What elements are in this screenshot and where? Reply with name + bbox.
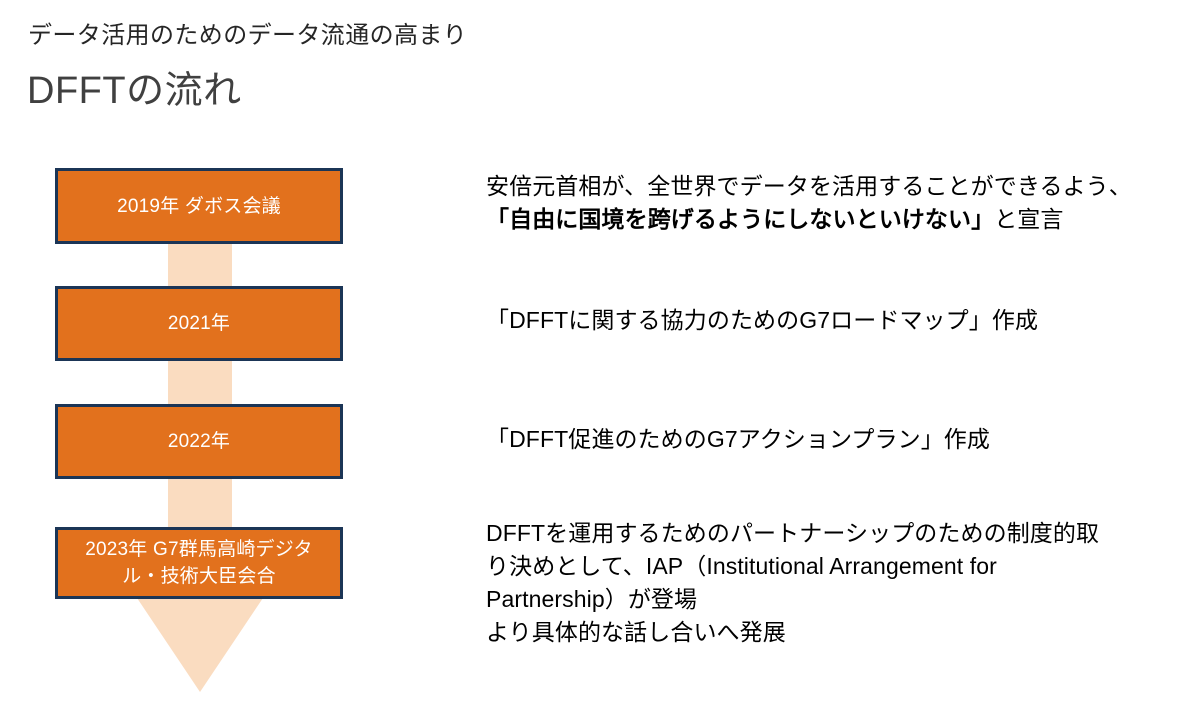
page-title: DFFTの流れ xyxy=(27,68,242,114)
timeline-box-2021[interactable]: 2021年 xyxy=(55,286,343,361)
description-line: 「DFFTに関する協力のためのG7ロードマップ」作成 xyxy=(486,304,1176,337)
description-line: り決めとして、IAP（Institutional Arrangement for xyxy=(486,550,1176,583)
timeline-box-label: 2023年 G7群馬高崎デジタ ル・技術大臣会合 xyxy=(79,536,319,590)
description-2023: DFFTを運用するためのパートナーシップのための制度的取 り決めとして、IAP（… xyxy=(486,517,1176,649)
description-tail: と宣言 xyxy=(994,206,1063,232)
timeline-box-label: 2019年 ダボス会議 xyxy=(111,193,287,220)
timeline-box-2023[interactable]: 2023年 G7群馬高崎デジタ ル・技術大臣会合 xyxy=(55,527,343,599)
timeline-box-2019[interactable]: 2019年 ダボス会議 xyxy=(55,168,343,244)
description-line: 「自由に国境を跨げるようにしないといけない」と宣言 xyxy=(486,203,1176,236)
timeline-box-label: 2022年 xyxy=(162,428,236,455)
description-line: Partnership）が登場 xyxy=(486,583,1176,616)
timeline-box-2022[interactable]: 2022年 xyxy=(55,404,343,479)
description-2021: 「DFFTに関する協力のためのG7ロードマップ」作成 xyxy=(486,304,1176,337)
slide-subtitle: データ活用のためのデータ流通の高まり xyxy=(28,21,467,51)
timeline-box-label: 2021年 xyxy=(162,310,236,337)
timeline-box-label-line-2: ル・技術大臣会合 xyxy=(122,566,276,587)
description-emphasis: 「自由に国境を跨げるようにしないといけない」 xyxy=(486,206,994,232)
timeline-box-label-line-1: 2023年 G7群馬高崎デジタ xyxy=(85,539,313,560)
description-line: DFFTを運用するためのパートナーシップのための制度的取 xyxy=(486,517,1176,550)
description-line: 「DFFT促進のためのG7アクションプラン」作成 xyxy=(486,423,1176,456)
description-2019: 安倍元首相が、全世界でデータを活用することができるよう、 「自由に国境を跨げるよ… xyxy=(486,170,1176,236)
description-line: 安倍元首相が、全世界でデータを活用することができるよう、 xyxy=(486,170,1176,203)
description-line: より具体的な話し合いへ発展 xyxy=(486,616,1176,649)
description-2022: 「DFFT促進のためのG7アクションプラン」作成 xyxy=(486,423,1176,456)
